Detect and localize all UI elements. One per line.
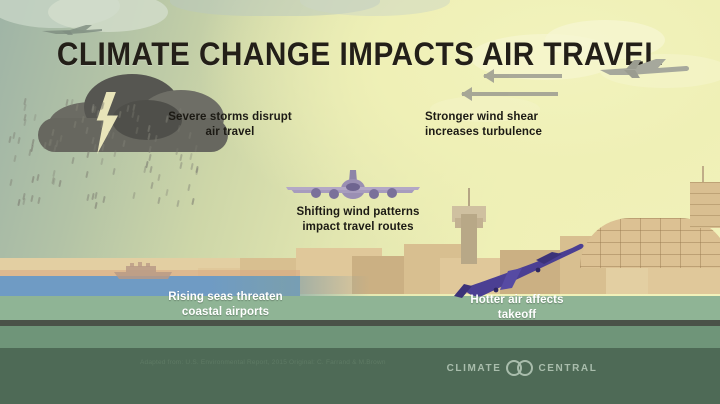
logo-text-right: CENTRAL	[538, 363, 597, 374]
rain-drop	[157, 174, 160, 181]
rain-drop	[70, 99, 73, 106]
rain-drop	[86, 171, 89, 178]
credit-text: Adapted from: U.S. Environmental Report,…	[140, 358, 400, 367]
rain-drop	[191, 198, 194, 205]
rain-drop	[101, 121, 104, 128]
callout-hotter-air: Hotter air affects takeoff	[432, 293, 602, 323]
rain-drop	[175, 148, 178, 155]
climate-central-logo: CLIMATE CENTRAL	[452, 360, 592, 376]
rain-drop	[150, 182, 153, 189]
callout-storm-line2: air travel	[145, 125, 315, 140]
rain-drop	[23, 103, 26, 110]
rain-drop	[71, 157, 74, 164]
rain-drop	[55, 140, 58, 147]
rain-drop	[13, 155, 16, 162]
callout-hot-line2: takeoff	[432, 308, 602, 323]
rain-drop	[195, 145, 198, 152]
rain-drop	[50, 139, 53, 146]
callout-seas-line1: Rising seas threaten	[138, 290, 313, 305]
rain-drop	[24, 119, 27, 126]
rain-drop	[17, 136, 20, 143]
callout-wind-patterns: Shifting wind patterns impact travel rou…	[268, 205, 448, 235]
rain-drop	[38, 197, 41, 204]
rain-drop	[65, 99, 68, 106]
callout-shear-line1: Stronger wind shear	[425, 110, 605, 125]
rain-drop	[190, 152, 193, 159]
rain-drop	[73, 121, 76, 128]
callout-wind-shear: Stronger wind shear increases turbulence	[425, 110, 605, 140]
rain-drop	[43, 142, 46, 149]
rain-drop	[165, 189, 168, 196]
rain-drop	[59, 180, 62, 187]
rain-drop	[179, 154, 182, 161]
rain-drop	[9, 135, 12, 142]
rain-drop	[157, 196, 160, 203]
airplane-front-icon	[286, 168, 420, 202]
cargo-ship-icon	[112, 262, 174, 280]
callout-rising-seas: Rising seas threaten coastal airports	[138, 290, 313, 320]
airplane-side-icon	[596, 54, 692, 80]
rain-drop	[195, 168, 198, 175]
rain-drop	[28, 148, 31, 155]
rain-drop	[136, 114, 139, 121]
rain-drop	[85, 127, 88, 134]
rain-drop	[101, 144, 104, 151]
rain-drop	[131, 111, 134, 118]
rain-drop	[111, 132, 114, 139]
rain-drop	[30, 195, 33, 202]
rain-drop	[176, 200, 179, 207]
callout-wind-line2: impact travel routes	[268, 220, 448, 235]
callout-seas-line2: coastal airports	[138, 305, 313, 320]
rain-drop	[81, 116, 84, 123]
rain-drop	[100, 158, 103, 165]
rain-drop	[190, 163, 193, 170]
logo-rings-icon	[506, 360, 533, 376]
rain-drop	[133, 192, 136, 199]
rain-drop	[114, 149, 117, 156]
airplane-side-icon	[40, 22, 104, 36]
rain-drop	[51, 128, 54, 135]
rain-drop	[122, 140, 125, 147]
rain-drop	[100, 103, 103, 110]
rain-drop	[87, 194, 90, 201]
rain-drop	[76, 104, 79, 111]
rain-drop	[148, 154, 151, 161]
callout-wind-line1: Shifting wind patterns	[268, 205, 448, 220]
airplane-takeoff-icon	[452, 238, 586, 300]
footer-band	[0, 348, 720, 404]
rain-drop	[119, 110, 122, 117]
rain-drop	[31, 176, 34, 183]
rain-drop	[180, 162, 183, 169]
rain-drop	[96, 110, 99, 117]
rain-drop	[145, 161, 148, 168]
callout-storm: Severe storms disrupt air travel	[145, 110, 315, 140]
rain-drop	[135, 127, 138, 134]
rain-drop	[113, 168, 116, 175]
rain-drop	[86, 151, 89, 158]
wind-arrow-icon	[462, 72, 572, 112]
rain-drop	[93, 144, 96, 151]
rain-drop	[9, 179, 12, 186]
rain-drop	[17, 199, 20, 206]
callout-shear-line2: increases turbulence	[425, 125, 605, 140]
infographic-canvas: CLIMATE CHANGE IMPACTS AIR TRAVEL	[0, 0, 720, 404]
tower-building-icon	[690, 182, 720, 228]
callout-hot-line1: Hotter air affects	[432, 293, 602, 308]
rain-drop	[37, 174, 40, 181]
rain-drop	[148, 146, 151, 153]
logo-text-left: CLIMATE	[447, 363, 502, 374]
callout-storm-line1: Severe storms disrupt	[145, 110, 315, 125]
rain-drop	[60, 135, 63, 142]
rain-drop	[12, 131, 15, 138]
rain-drop	[187, 184, 190, 191]
rain-drop	[126, 105, 129, 112]
rain-drop	[149, 166, 152, 173]
rain-drop	[108, 130, 111, 137]
rain-drop	[102, 196, 105, 203]
rain-drop	[33, 114, 36, 121]
rain-drop	[22, 198, 25, 205]
